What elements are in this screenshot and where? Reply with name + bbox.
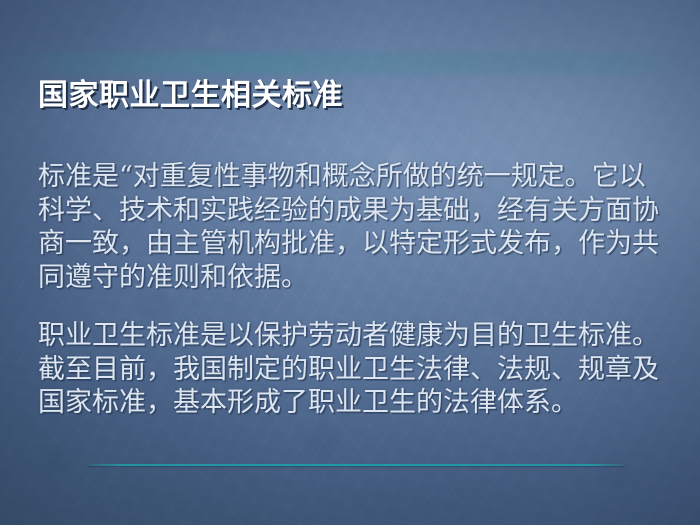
presentation-slide: 国家职业卫生相关标准 标准是“对重复性事物和概念所做的统一规定。它以科学、技术和… (0, 0, 700, 525)
slide-title: 国家职业卫生相关标准 (38, 79, 343, 113)
body-paragraph-1: 标准是“对重复性事物和概念所做的统一规定。它以科学、技术和实践经验的成果为基础，… (38, 160, 668, 294)
body-paragraph-2: 职业卫生标准是以保护劳动者健康为目的卫生标准。截至目前，我国制定的职业卫生法律、… (38, 319, 668, 420)
accent-divider-rule (88, 464, 625, 466)
slide-content: 国家职业卫生相关标准 标准是“对重复性事物和概念所做的统一规定。它以科学、技术和… (0, 0, 700, 525)
slide-body: 标准是“对重复性事物和概念所做的统一规定。它以科学、技术和实践经验的成果为基础，… (38, 160, 668, 420)
